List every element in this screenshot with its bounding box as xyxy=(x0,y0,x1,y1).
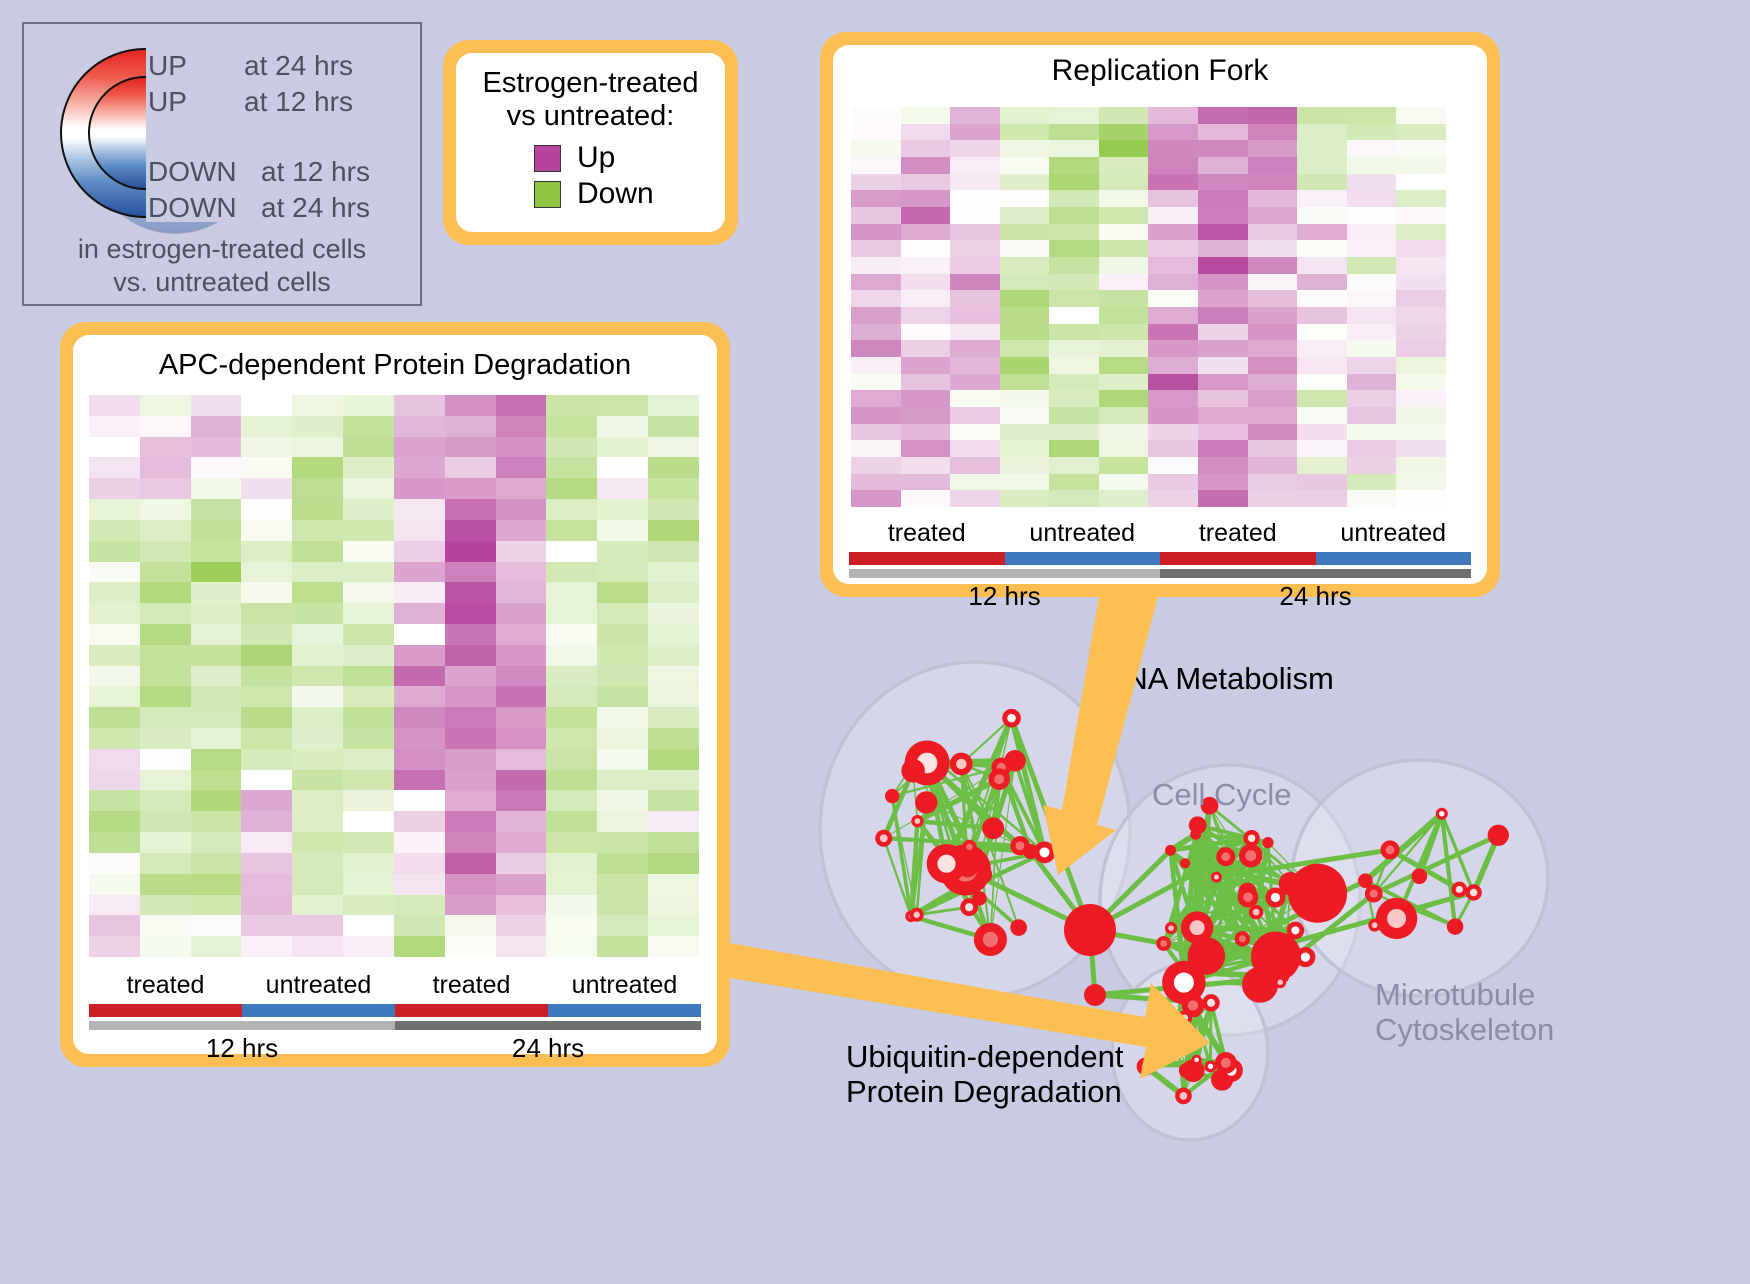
heatmap-cell xyxy=(445,437,496,458)
heatmap-cell xyxy=(394,416,445,437)
cbar-label-up-24: UP xyxy=(148,50,187,82)
cluster-label-dna-metabolism: DNA Metabolism xyxy=(1103,662,1334,697)
heatmap-cell xyxy=(546,666,597,687)
network-node[interactable] xyxy=(915,791,937,813)
heatmap-cell xyxy=(445,499,496,520)
node-inner xyxy=(1174,973,1194,993)
heatmap-cell xyxy=(1198,474,1248,491)
heatmap-cell xyxy=(648,395,699,416)
node-outer xyxy=(982,817,1004,839)
heatmap-cell xyxy=(241,895,292,916)
cluster-label-cell-cycle: Cell Cycle xyxy=(1152,778,1292,813)
node-outer xyxy=(1189,816,1207,834)
heatmap-cell xyxy=(1000,490,1050,507)
heatmap-cell xyxy=(343,707,394,728)
heatmap-cell xyxy=(1248,357,1298,374)
network-node[interactable] xyxy=(910,908,924,922)
heatmap-cell xyxy=(140,770,191,791)
node-inner xyxy=(1248,834,1256,842)
heatmap-cell xyxy=(292,541,343,562)
network-node[interactable] xyxy=(1165,922,1177,934)
heatmap-cell xyxy=(394,395,445,416)
heatmap-cell xyxy=(394,562,445,583)
heatmap-cell xyxy=(1099,124,1149,141)
network-node[interactable] xyxy=(1180,858,1190,868)
heatmap-cell xyxy=(1000,190,1050,207)
sample-label: untreated xyxy=(242,971,395,1000)
heatmap-cell xyxy=(140,624,191,645)
network-node[interactable] xyxy=(1002,709,1021,728)
heatmap-cell xyxy=(445,541,496,562)
heatmap-cell xyxy=(597,915,648,936)
cbar-time-down-12: at 12 hrs xyxy=(261,156,370,188)
node-inner xyxy=(956,759,966,769)
heatmap-cell xyxy=(292,707,343,728)
heatmap-cell xyxy=(191,770,242,791)
heatmap-cell xyxy=(89,915,140,936)
heatmap-cell xyxy=(1347,290,1397,307)
network-node[interactable] xyxy=(1239,844,1262,867)
heatmap-cell xyxy=(1000,307,1050,324)
heatmap-cell xyxy=(140,437,191,458)
heatmap-cell xyxy=(546,624,597,645)
network-node[interactable] xyxy=(982,817,1004,839)
cluster-label-ubiquitin-degradation: Ubiquitin-dependent Protein Degradation xyxy=(846,1040,1124,1109)
heatmap-cell xyxy=(89,895,140,916)
node-outer xyxy=(1084,984,1106,1006)
heatmap-cell xyxy=(1396,107,1446,124)
node-outer xyxy=(1064,904,1116,956)
time-color-bar xyxy=(849,569,1160,578)
cluster-label-microtubule: Microtubule Cytoskeleton xyxy=(1375,978,1554,1047)
network-node[interactable] xyxy=(1165,845,1176,856)
node-inner xyxy=(1214,875,1219,880)
network-node[interactable] xyxy=(1436,808,1448,820)
heatmap-cell xyxy=(1248,224,1298,241)
heatmap-cell xyxy=(1148,490,1198,507)
heatmap-cell xyxy=(648,562,699,583)
heatmap-cell xyxy=(1297,190,1347,207)
heatmap-cell xyxy=(1347,190,1397,207)
heatmap-cell xyxy=(597,874,648,895)
heatmap-cell xyxy=(950,290,1000,307)
heatmap-cell xyxy=(648,666,699,687)
node-inner xyxy=(966,844,973,851)
node-inner xyxy=(1207,999,1215,1007)
heatmap-cell xyxy=(1396,474,1446,491)
heatmap-cell xyxy=(191,457,242,478)
heatmap-cell xyxy=(1248,274,1298,291)
heatmap-cell xyxy=(343,478,394,499)
heatmap-cell xyxy=(1297,240,1347,257)
heatmap-cell xyxy=(597,603,648,624)
heatmap-cell xyxy=(445,457,496,478)
heatmap-cell xyxy=(1248,407,1298,424)
heatmap-cell xyxy=(140,395,191,416)
heatmap-cell xyxy=(1297,440,1347,457)
heatmap-cell xyxy=(445,832,496,853)
heatmap-cell xyxy=(851,140,901,157)
heatmap-cell xyxy=(292,457,343,478)
network-node[interactable] xyxy=(1381,840,1400,859)
heatmap-cell xyxy=(851,190,901,207)
heatmap-cell xyxy=(546,895,597,916)
heatmap-cell xyxy=(1099,240,1149,257)
heatmap-cell xyxy=(292,790,343,811)
heatmap-cell xyxy=(1297,157,1347,174)
node-inner xyxy=(915,818,921,824)
heatmap-cell xyxy=(1396,457,1446,474)
heatmap-cell xyxy=(1297,107,1347,124)
heatmap-cell xyxy=(546,686,597,707)
network-node[interactable] xyxy=(1137,1057,1155,1075)
network-node[interactable] xyxy=(1010,919,1027,936)
network-node[interactable] xyxy=(1197,953,1215,971)
heatmap-cell xyxy=(140,832,191,853)
heatmap-cell xyxy=(1198,340,1248,357)
heatmap-cell xyxy=(191,562,242,583)
heatmap-cell xyxy=(597,832,648,853)
heatmap-cell xyxy=(343,728,394,749)
heatmap-cell xyxy=(292,728,343,749)
network-node[interactable] xyxy=(1243,830,1259,846)
heatmap-cell xyxy=(343,811,394,832)
network-node[interactable] xyxy=(958,857,978,877)
heatmap-cell xyxy=(648,686,699,707)
heatmap-cell xyxy=(950,440,1000,457)
apc-dependent-panel: APC-dependent Protein Degradation treate… xyxy=(60,322,730,1067)
heatmap-cell xyxy=(1396,307,1446,324)
heatmap-cell xyxy=(140,895,191,916)
network-node[interactable] xyxy=(875,830,892,847)
heatmap-cell xyxy=(496,686,547,707)
heatmap-cell xyxy=(292,395,343,416)
heatmap-cell xyxy=(241,707,292,728)
network-node[interactable] xyxy=(1452,882,1468,898)
heatmap-cell xyxy=(1148,307,1198,324)
heatmap-cell xyxy=(546,874,597,895)
network-node[interactable] xyxy=(1064,904,1116,956)
heatmap-cell xyxy=(950,457,1000,474)
heatmap-cell xyxy=(191,395,242,416)
heatmap-cell xyxy=(1396,374,1446,391)
heatmap-cell xyxy=(241,790,292,811)
heatmap-cell xyxy=(901,190,951,207)
network-node[interactable] xyxy=(1287,922,1305,940)
heatmap-cell xyxy=(1248,174,1298,191)
heatmap-cell xyxy=(343,874,394,895)
heatmap-cell xyxy=(1148,240,1198,257)
heatmap-cell xyxy=(648,811,699,832)
heatmap-cell xyxy=(1198,357,1248,374)
heatmap-cell xyxy=(241,832,292,853)
heatmap-cell xyxy=(1148,374,1198,391)
heatmap-cell xyxy=(89,603,140,624)
node-inner xyxy=(1372,922,1378,928)
heatmap-cell xyxy=(1000,357,1050,374)
heatmap-cell xyxy=(1049,157,1099,174)
network-node[interactable] xyxy=(962,840,976,854)
heatmap-cell xyxy=(546,520,597,541)
network-node[interactable] xyxy=(974,923,1007,956)
heatmap-cell xyxy=(1049,474,1099,491)
heatmap-cell xyxy=(648,437,699,458)
network-node[interactable] xyxy=(1368,919,1381,932)
node-inner xyxy=(1180,1092,1188,1100)
heatmap-cell xyxy=(140,645,191,666)
heatmap-cell xyxy=(496,915,547,936)
network-node[interactable] xyxy=(1189,816,1207,834)
heatmap-cell xyxy=(394,457,445,478)
heatmap-cell xyxy=(1396,257,1446,274)
network-node[interactable] xyxy=(1216,847,1235,866)
heatmap-cell xyxy=(950,324,1000,341)
heatmap-cell xyxy=(1198,457,1248,474)
heatmap-cell xyxy=(1198,274,1248,291)
legend-title-line1: Estrogen-treated xyxy=(456,67,725,100)
network-node[interactable] xyxy=(1412,868,1428,884)
network-node[interactable] xyxy=(1376,898,1417,939)
heatmap-cell xyxy=(1297,390,1347,407)
heatmap-cell xyxy=(445,728,496,749)
heatmap-cell xyxy=(1148,257,1198,274)
heatmap-cell xyxy=(241,936,292,957)
heatmap-cell xyxy=(191,541,242,562)
heatmap-cell xyxy=(901,307,951,324)
heatmap-cell xyxy=(1099,390,1149,407)
heatmap-cell xyxy=(950,207,1000,224)
network-node[interactable] xyxy=(1004,750,1025,771)
heatmap-cell xyxy=(496,395,547,416)
heatmap-cell xyxy=(1148,474,1198,491)
heatmap-cell xyxy=(241,562,292,583)
heatmap-cell xyxy=(445,707,496,728)
network-node[interactable] xyxy=(1211,872,1222,883)
heatmap-cell xyxy=(1248,290,1298,307)
network-node[interactable] xyxy=(972,891,986,905)
heatmap-cell xyxy=(496,437,547,458)
heatmap-cell xyxy=(343,624,394,645)
network-node[interactable] xyxy=(1192,1055,1202,1065)
heatmap-cell xyxy=(851,457,901,474)
heatmap-cell xyxy=(241,811,292,832)
heatmap-cell xyxy=(394,666,445,687)
heatmap-cell xyxy=(597,707,648,728)
heatmap-cell xyxy=(343,395,394,416)
node-inner xyxy=(1190,920,1205,935)
heatmap-cell xyxy=(901,474,951,491)
heatmap-cell xyxy=(140,749,191,770)
heatmap-cell xyxy=(597,478,648,499)
heatmap-cell xyxy=(1198,407,1248,424)
node-outer xyxy=(1004,750,1025,771)
network-node[interactable] xyxy=(911,815,923,827)
heatmap-cell xyxy=(241,437,292,458)
heatmap-cell xyxy=(89,770,140,791)
heatmap-cell xyxy=(89,790,140,811)
network-node[interactable] xyxy=(1279,872,1303,896)
heatmap-cell xyxy=(597,686,648,707)
heatmap-cell xyxy=(546,770,597,791)
heatmap-cell xyxy=(89,624,140,645)
heatmap-cell xyxy=(1347,407,1397,424)
heatmap-cell xyxy=(496,770,547,791)
legend-label-down: Down xyxy=(577,177,654,211)
node-inner xyxy=(1208,1064,1213,1069)
heatmap-cell xyxy=(1297,474,1347,491)
network-node[interactable] xyxy=(950,753,973,776)
heatmap-cell xyxy=(648,457,699,478)
cbar-label-down-24: DOWN xyxy=(148,192,237,224)
cbar-time-down-24: at 24 hrs xyxy=(261,192,370,224)
heatmap-cell xyxy=(648,541,699,562)
heatmap-cell xyxy=(1297,340,1347,357)
heatmap-cell xyxy=(597,666,648,687)
heatmap-cell xyxy=(851,424,901,441)
network-node[interactable] xyxy=(1238,887,1259,908)
legend-title-line2: vs untreated: xyxy=(456,100,725,133)
network-node[interactable] xyxy=(1235,931,1250,946)
node-outer xyxy=(958,857,978,877)
network-node[interactable] xyxy=(1249,905,1264,920)
heatmap-cell xyxy=(1347,424,1397,441)
network-node[interactable] xyxy=(1181,911,1213,943)
heatmap-cell xyxy=(394,645,445,666)
network-node[interactable] xyxy=(1173,1033,1183,1043)
heatmap-cell xyxy=(89,874,140,895)
network-node[interactable] xyxy=(885,789,899,803)
apc-sample-labels: treateduntreatedtreateduntreated xyxy=(89,971,701,1000)
heatmap-cell xyxy=(1099,440,1149,457)
network-node[interactable] xyxy=(988,768,1010,790)
node-outer xyxy=(1447,918,1463,934)
heatmap-cell xyxy=(901,324,951,341)
heatmap-cell xyxy=(496,457,547,478)
heatmap-cell xyxy=(496,707,547,728)
sample-color-bar xyxy=(395,1004,548,1017)
heatmap-cell xyxy=(1148,440,1198,457)
sample-label: untreated xyxy=(1005,519,1161,548)
network-node[interactable] xyxy=(1034,841,1056,863)
network-node[interactable] xyxy=(1175,1088,1192,1105)
sample-color-bar xyxy=(89,1004,242,1017)
heatmap-cell xyxy=(140,457,191,478)
sample-label: untreated xyxy=(548,971,701,1000)
heatmap-cell xyxy=(648,915,699,936)
heatmap-cell xyxy=(394,770,445,791)
heatmap-cell xyxy=(1148,224,1198,241)
network-node[interactable] xyxy=(1365,885,1383,903)
network-node[interactable] xyxy=(1488,825,1509,846)
network-node[interactable] xyxy=(1447,918,1463,934)
network-node[interactable] xyxy=(1202,994,1219,1011)
network-node[interactable] xyxy=(1156,936,1171,951)
heatmap-cell xyxy=(191,603,242,624)
network-node[interactable] xyxy=(1274,976,1286,988)
heatmap-cell xyxy=(1297,274,1347,291)
replication-fork-sample-annotation: treateduntreatedtreateduntreated 12 hrs2… xyxy=(849,519,1471,612)
network-node[interactable] xyxy=(1262,837,1273,848)
heatmap-cell xyxy=(597,790,648,811)
network-node[interactable] xyxy=(1465,884,1481,900)
node-inner xyxy=(1039,847,1049,857)
heatmap-cell xyxy=(1396,440,1446,457)
heatmap-cell xyxy=(394,478,445,499)
heatmap-cell xyxy=(241,582,292,603)
heatmap-cell xyxy=(950,124,1000,141)
heatmap-cell xyxy=(851,107,901,124)
heatmap-cell xyxy=(901,407,951,424)
heatmap-cell xyxy=(950,224,1000,241)
heatmap-cell xyxy=(851,474,901,491)
heatmap-cell xyxy=(597,562,648,583)
heatmap-cell xyxy=(546,457,597,478)
heatmap-cell xyxy=(546,603,597,624)
heatmap-cell xyxy=(445,874,496,895)
node-inner xyxy=(880,834,888,842)
heatmap-cell xyxy=(292,520,343,541)
heatmap-cell xyxy=(292,874,343,895)
network-node[interactable] xyxy=(1177,1011,1192,1026)
network-node[interactable] xyxy=(1084,984,1106,1006)
heatmap-cell xyxy=(1049,357,1099,374)
heatmap-cell xyxy=(1347,257,1397,274)
heatmap-cell xyxy=(1099,407,1149,424)
heatmap-cell xyxy=(1099,174,1149,191)
heatmap-cell xyxy=(1198,424,1248,441)
heatmap-cell xyxy=(394,603,445,624)
heatmap-cell xyxy=(1198,290,1248,307)
heatmap-cell xyxy=(496,541,547,562)
heatmap-cell xyxy=(851,224,901,241)
heatmap-cell xyxy=(950,157,1000,174)
heatmap-cell xyxy=(597,895,648,916)
heatmap-cell xyxy=(1099,107,1149,124)
heatmap-cell xyxy=(1297,490,1347,507)
heatmap-cell xyxy=(901,157,951,174)
heatmap-cell xyxy=(1396,124,1446,141)
node-inner xyxy=(1239,935,1246,942)
heatmap-cell xyxy=(191,666,242,687)
heatmap-cell xyxy=(597,770,648,791)
heatmap-cell xyxy=(445,582,496,603)
heatmap-cell xyxy=(445,936,496,957)
heatmap-cell xyxy=(1000,290,1050,307)
heatmap-cell xyxy=(1049,440,1099,457)
heatmap-cell xyxy=(950,190,1000,207)
heatmap-cell xyxy=(292,666,343,687)
heatmap-cell xyxy=(191,874,242,895)
sample-label: treated xyxy=(89,971,242,1000)
network-node[interactable] xyxy=(1010,836,1029,855)
network-node[interactable] xyxy=(1215,1052,1237,1074)
heatmap-cell xyxy=(191,853,242,874)
network-node[interactable] xyxy=(901,759,925,783)
cbar-note-line1: in estrogen-treated cells xyxy=(24,234,420,266)
heatmap-cell xyxy=(343,603,394,624)
heatmap-cell xyxy=(1396,357,1446,374)
replication-fork-time-bar xyxy=(849,569,1471,578)
heatmap-cell xyxy=(1049,274,1099,291)
heatmap-cell xyxy=(445,666,496,687)
heatmap-cell xyxy=(901,457,951,474)
legend-items: Up Down xyxy=(456,141,725,211)
network-node[interactable] xyxy=(1205,1060,1217,1072)
heatmap-cell xyxy=(1297,207,1347,224)
heatmap-cell xyxy=(241,666,292,687)
heatmap-cell xyxy=(1049,324,1099,341)
heatmap-cell xyxy=(1347,224,1397,241)
